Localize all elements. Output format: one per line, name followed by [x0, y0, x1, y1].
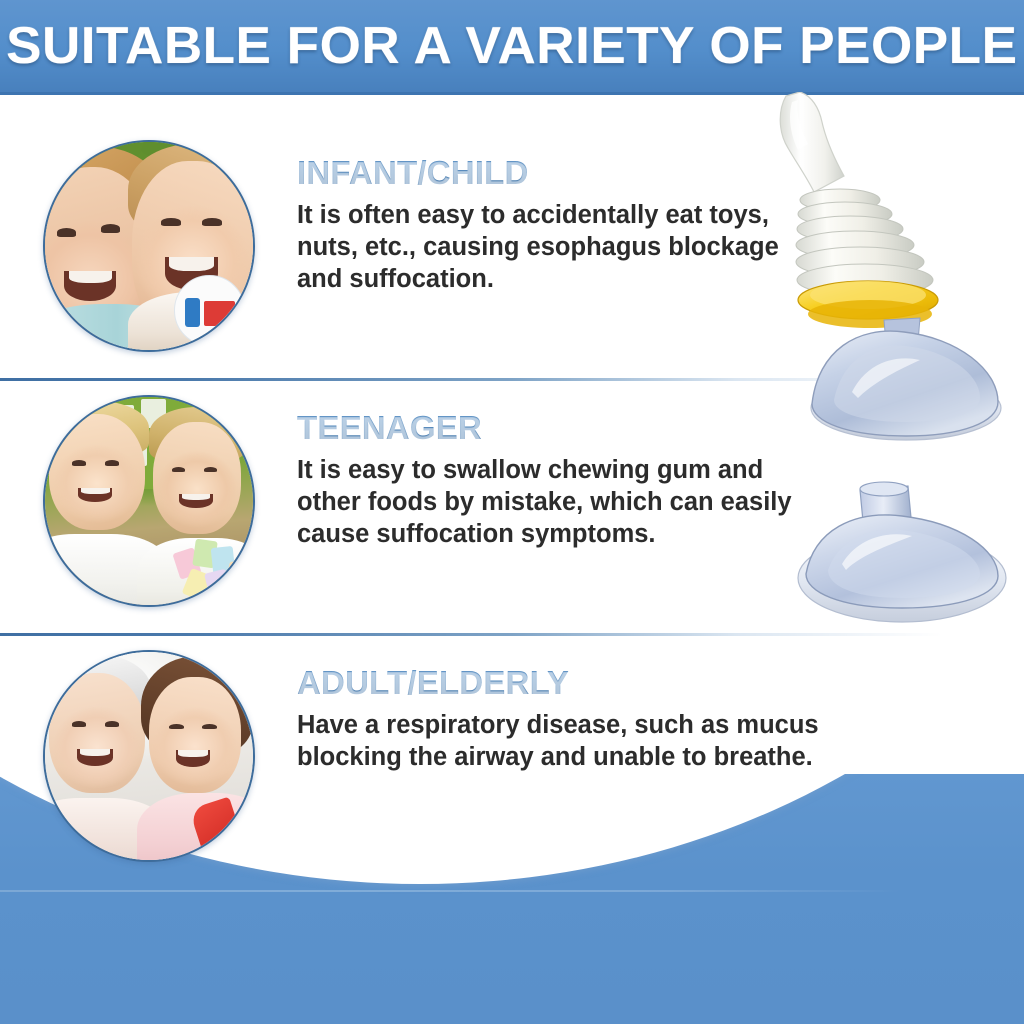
photo3-face-elderly — [49, 673, 145, 794]
photo1-eye — [202, 218, 221, 226]
photo3-smile — [77, 749, 113, 766]
photo1-smile — [64, 271, 116, 301]
page-title: SUITABLE FOR A VARIETY OF PEOPLE — [6, 16, 1017, 76]
photo-infant-child — [43, 140, 255, 352]
photo2-eye — [204, 467, 217, 473]
infographic-canvas: SUITABLE FOR A VARIETY OF PEOPLE — [0, 0, 1024, 1024]
photo2-smile — [179, 494, 212, 509]
content-area: INFANT/CHILD It is often easy to acciden… — [0, 95, 1024, 925]
photo2-smile — [78, 488, 112, 502]
heading-infant-child: INFANT/CHILD — [297, 154, 529, 192]
photo-infant-child-wrap — [43, 140, 255, 352]
section-divider-2 — [0, 633, 1024, 636]
photo2-chalk — [225, 561, 252, 592]
photo3-eye — [72, 721, 86, 727]
photo3-face-adult — [149, 677, 241, 793]
photo1-eye — [101, 224, 120, 233]
photo1-eye — [57, 228, 76, 237]
photo1-eye — [161, 218, 180, 226]
section-divider-3 — [0, 890, 1024, 892]
body-teenager: It is easy to swallow chewing gum and ot… — [297, 455, 824, 551]
photo2-chalk-group — [174, 534, 255, 605]
photo2-eye — [105, 460, 119, 466]
photo3-smile — [176, 750, 211, 766]
photo2-eye — [172, 467, 185, 473]
photo2-face-left — [49, 414, 145, 530]
photo3-eye — [169, 724, 184, 730]
heading-adult-elderly: ADULT/ELDERLY — [297, 664, 569, 702]
photo-teenager — [43, 395, 255, 607]
photo-adult-elderly-wrap — [43, 650, 255, 862]
photo-teenager-wrap — [43, 395, 255, 607]
photo3-eye — [202, 724, 217, 730]
heading-teenager: TEENAGER — [297, 409, 482, 447]
section-divider-1 — [0, 378, 1024, 381]
photo2-eye — [72, 460, 86, 466]
text-infant-child: INFANT/CHILD It is often easy to acciden… — [255, 140, 1024, 296]
section-adult-elderly: ADULT/ELDERLY Have a respiratory disease… — [0, 650, 1024, 890]
photo1-badge-red — [204, 301, 236, 326]
text-teenager: TEENAGER It is easy to swallow chewing g… — [255, 395, 1024, 551]
section-teenager: TEENAGER It is easy to swallow chewing g… — [0, 395, 1024, 635]
section-infant-child: INFANT/CHILD It is often easy to acciden… — [0, 140, 1024, 380]
photo3-eye — [105, 721, 119, 727]
body-infant-child: It is often easy to accidentally eat toy… — [297, 200, 817, 296]
photo2-face-right — [153, 422, 240, 534]
photo-adult-elderly — [43, 650, 255, 862]
body-adult-elderly: Have a respiratory disease, such as mucu… — [297, 710, 824, 774]
header-band: SUITABLE FOR A VARIETY OF PEOPLE — [0, 0, 1024, 95]
photo1-badge-blue — [185, 298, 200, 327]
photo1-badge — [174, 275, 245, 346]
text-adult-elderly: ADULT/ELDERLY Have a respiratory disease… — [255, 650, 1024, 774]
